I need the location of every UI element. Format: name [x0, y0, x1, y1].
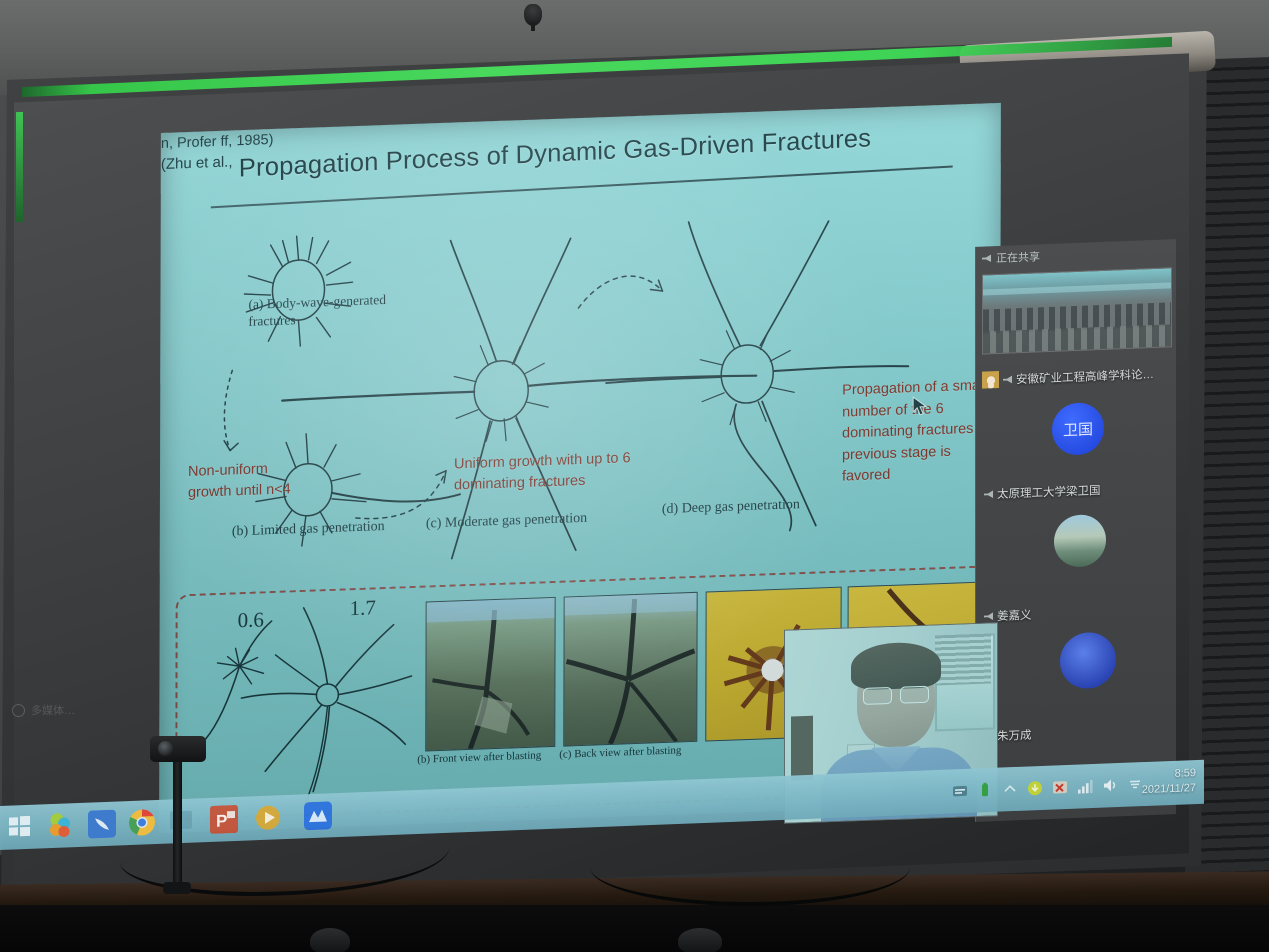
camera-lens-icon	[158, 741, 173, 756]
foreground-object-right	[678, 928, 722, 952]
battery-icon[interactable]	[977, 782, 993, 799]
tripod-base	[163, 882, 191, 894]
zoom-avatar-photo-2[interactable]	[1060, 631, 1116, 689]
ceiling-sprinkler-icon	[524, 4, 542, 26]
caption-a: (a) Body-wave-generated fractures	[248, 289, 428, 329]
tripod-pole	[173, 760, 182, 885]
zoom-avatar-initials[interactable]: 卫国	[1052, 402, 1104, 456]
screenshot-root: Propagation Process of Dynamic Gas-Drive…	[0, 0, 1269, 952]
foreground-object-left	[310, 928, 350, 952]
annotation-left-red: Non-uniform growth until n<4	[188, 458, 298, 504]
microphone-icon	[982, 254, 991, 263]
clock-date: 2021/11/27	[1142, 781, 1196, 798]
wall-faint-label: 多媒体…	[12, 702, 75, 718]
screen-edge-green-left	[16, 112, 23, 222]
radial-fracture-sketches	[179, 591, 430, 815]
start-button[interactable]	[6, 813, 34, 842]
wall-faint-icon	[12, 704, 25, 717]
foreground-cable-right	[590, 828, 910, 906]
avatar-initials: 卫国	[1063, 418, 1093, 440]
participant-label: 朱万成	[997, 727, 1032, 744]
audience-desk	[983, 282, 1171, 295]
ime-icon[interactable]	[952, 783, 968, 800]
photo-back-view	[563, 592, 697, 747]
zoom-avatar-photo-1[interactable]	[1054, 514, 1106, 568]
system-tray[interactable]	[952, 772, 1143, 803]
room-foreground-dark	[0, 905, 1269, 952]
volume-icon[interactable]	[1102, 777, 1118, 794]
annotation-right-red: Propagation of a small number of the 6 d…	[842, 375, 990, 488]
annotation-middle-red: Uniform growth with up to 6 dominating f…	[454, 448, 644, 497]
zoom-participant-sidebar[interactable]: 正在共享 安徽矿业工程高峰学科论… 卫国 太原理工大学梁卫国 姜嘉义 朱万成	[975, 239, 1176, 822]
mouse-cursor-icon	[912, 396, 928, 419]
zoom-participant-name-0: 安徽矿业工程高峰学科论…	[1003, 366, 1154, 388]
zoom-sidebar-header: 正在共享	[982, 248, 1040, 266]
participant-label: 太原理工大学梁卫国	[997, 482, 1101, 502]
show-hidden-icons-chevron-up-icon[interactable]	[1002, 781, 1018, 798]
microphone-icon	[984, 612, 993, 621]
microphone-icon	[1003, 375, 1012, 384]
zoom-sidebar-header-label: 正在共享	[996, 248, 1040, 266]
antivirus-icon[interactable]	[1052, 779, 1068, 796]
slide-title: Propagation Process of Dynamic Gas-Drive…	[239, 120, 969, 184]
wall-faint-text: 多媒体…	[31, 702, 75, 718]
network-signal-icon[interactable]	[1077, 778, 1093, 795]
participant-user-icon	[982, 371, 999, 389]
foxmail-icon[interactable]	[88, 810, 116, 839]
participant-label: 姜嘉义	[997, 607, 1032, 624]
photo-front-view	[425, 597, 555, 752]
update-icon[interactable]	[1027, 780, 1043, 797]
zoom-participant-name-1: 太原理工大学梁卫国	[984, 482, 1101, 502]
participant-label: 安徽矿业工程高峰学科论…	[1016, 366, 1154, 387]
microphone-icon	[984, 490, 993, 499]
notifications-icon[interactable]	[1127, 776, 1143, 793]
taskbar-clock[interactable]: 8:59 2021/11/27	[1142, 766, 1196, 798]
zoom-tile-audience-video[interactable]	[982, 267, 1172, 354]
app-launcher-icon[interactable]	[46, 811, 74, 840]
